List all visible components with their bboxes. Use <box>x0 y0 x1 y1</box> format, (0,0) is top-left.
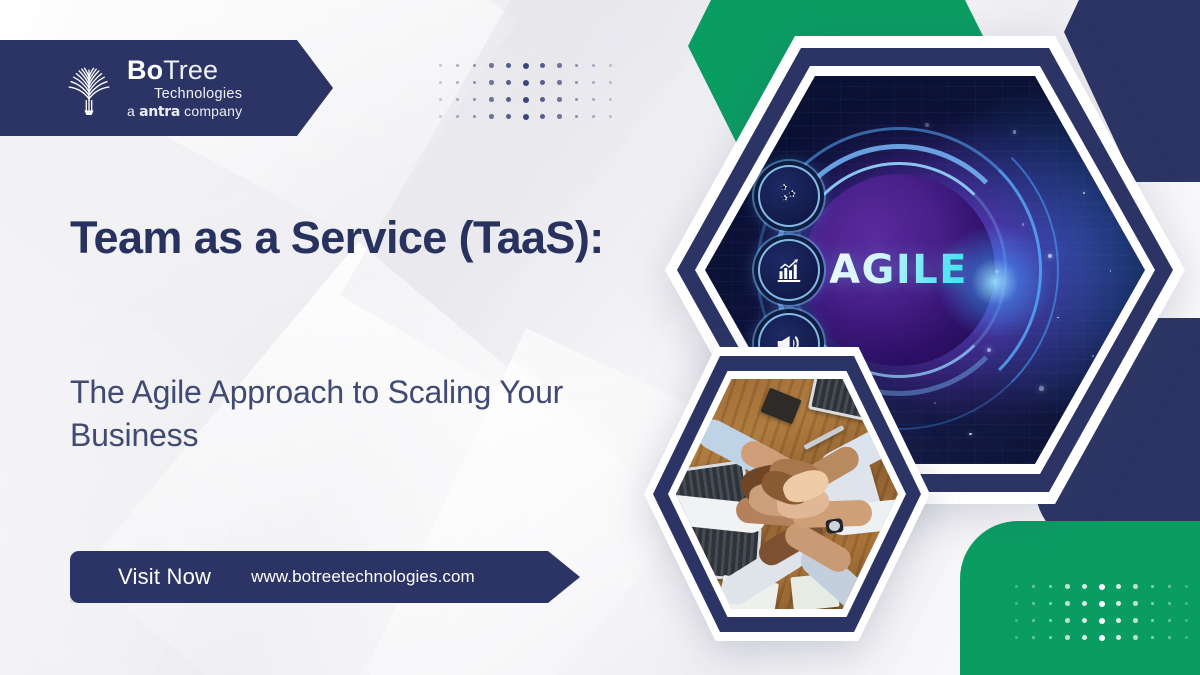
page-subtitle: The Agile Approach to Scaling Your Busin… <box>70 371 590 456</box>
page-title: Team as a Service (TaaS): <box>70 209 630 268</box>
grid-dot <box>1133 601 1138 606</box>
grid-dot <box>1099 601 1105 607</box>
logo-tagline: Technologies <box>127 87 242 102</box>
dot-grid-top <box>432 57 619 125</box>
grid-dot <box>540 97 545 102</box>
grid-dot <box>1099 618 1105 624</box>
cta-url[interactable]: www.botreetechnologies.com <box>251 567 475 587</box>
grid-dot <box>1015 636 1017 638</box>
grid-dot <box>1151 619 1155 623</box>
grid-dot <box>473 81 477 85</box>
grid-dot <box>592 98 595 101</box>
grid-dot <box>1168 585 1171 588</box>
grid-dot <box>489 80 494 85</box>
grid-dot <box>1065 635 1070 640</box>
grid-dot <box>523 80 529 86</box>
grid-dot <box>557 80 562 85</box>
grid-dot <box>1049 619 1053 623</box>
grid-dot <box>439 81 441 83</box>
grid-dot <box>1032 585 1035 588</box>
grid-dot <box>540 114 545 119</box>
antra-wordmark: antra <box>139 104 180 120</box>
stacked-hands <box>739 458 835 530</box>
grid-dot <box>592 81 595 84</box>
grid-dot <box>1151 585 1155 589</box>
grid-dot <box>1151 636 1155 640</box>
grid-dot <box>1082 635 1087 640</box>
grid-dot <box>489 114 494 119</box>
botree-tree-icon <box>62 59 116 117</box>
grid-dot <box>575 81 579 85</box>
grid-dot <box>1099 584 1105 590</box>
team-photo-hexagon <box>644 347 930 641</box>
grid-dot <box>557 97 562 102</box>
visit-now-cta[interactable]: Visit Now www.botreetechnologies.com <box>70 551 580 603</box>
grid-dot <box>1099 635 1105 641</box>
agile-word: AGILE <box>829 247 968 293</box>
grid-dot <box>557 114 562 119</box>
grid-dot <box>1065 618 1070 623</box>
grid-dot <box>1015 619 1017 621</box>
grid-dot <box>609 115 611 117</box>
logo-name-light: Tree <box>163 55 218 85</box>
grid-dot <box>439 98 441 100</box>
grid-dot <box>456 64 459 67</box>
grid-dot <box>1133 584 1138 589</box>
grid-dot <box>506 80 511 85</box>
grid-dot <box>439 64 441 66</box>
grid-dot <box>1185 585 1187 587</box>
feature-icon-column <box>758 165 820 375</box>
grid-dot <box>473 115 477 119</box>
grid-dot <box>473 98 477 102</box>
gears-icon <box>758 165 820 227</box>
grid-dot <box>609 98 611 100</box>
bg-facet <box>82 242 688 675</box>
grid-dot <box>1082 584 1087 589</box>
grid-dot <box>506 63 511 68</box>
grid-dot <box>1185 619 1187 621</box>
grid-dot <box>523 114 529 120</box>
dot-grid-bottom <box>1008 578 1195 646</box>
grid-dot <box>1116 601 1121 606</box>
grid-dot <box>1032 636 1035 639</box>
grid-dot <box>506 97 511 102</box>
grid-dot <box>1049 585 1053 589</box>
grid-dot <box>1151 602 1155 606</box>
logo-name-bold: Bo <box>127 55 163 85</box>
brand-logo-bar[interactable]: BoTree Technologies a antra company <box>0 40 333 136</box>
grid-dot <box>1116 635 1121 640</box>
grid-dot <box>609 81 611 83</box>
grid-dot <box>1082 601 1087 606</box>
grid-dot <box>523 63 529 69</box>
grid-dot <box>1168 619 1171 622</box>
grid-dot <box>1185 602 1187 604</box>
grid-dot <box>1116 584 1121 589</box>
grid-dot <box>506 114 511 119</box>
grid-dot <box>575 115 579 119</box>
grid-dot <box>592 115 595 118</box>
bar-chart-growth-icon <box>758 239 820 301</box>
grid-dot <box>1185 636 1187 638</box>
grid-dot <box>1168 636 1171 639</box>
marketing-banner: AGILE <box>0 0 1200 675</box>
grid-dot <box>1168 602 1171 605</box>
grid-dot <box>540 80 545 85</box>
grid-dot <box>1133 618 1138 623</box>
grid-dot <box>1049 636 1053 640</box>
logo-parent-company: a antra company <box>127 104 242 119</box>
grid-dot <box>1065 601 1070 606</box>
grid-dot <box>575 64 579 68</box>
grid-dot <box>592 64 595 67</box>
grid-dot <box>557 63 562 68</box>
grid-dot <box>439 115 441 117</box>
grid-dot <box>456 98 459 101</box>
cta-label: Visit Now <box>118 564 211 590</box>
grid-dot <box>1032 602 1035 605</box>
grid-dot <box>489 97 494 102</box>
grid-dot <box>456 115 459 118</box>
grid-dot <box>1015 585 1017 587</box>
grid-dot <box>489 63 494 68</box>
grid-dot <box>1015 602 1017 604</box>
grid-dot <box>1133 635 1138 640</box>
grid-dot <box>456 81 459 84</box>
grid-dot <box>1065 584 1070 589</box>
grid-dot <box>523 97 529 103</box>
grid-dot <box>1082 618 1087 623</box>
grid-dot <box>1032 619 1035 622</box>
grid-dot <box>1049 602 1053 606</box>
grid-dot <box>473 64 477 68</box>
grid-dot <box>1116 618 1121 623</box>
grid-dot <box>609 64 611 66</box>
grid-dot <box>575 98 579 102</box>
grid-dot <box>540 63 545 68</box>
